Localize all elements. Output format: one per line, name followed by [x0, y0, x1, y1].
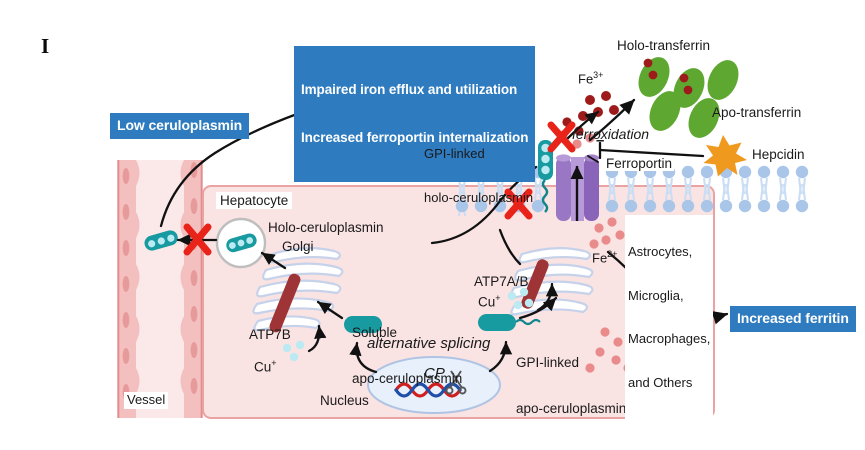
label-inhibition-sign: –: [596, 133, 604, 150]
fe3-text: Fe: [578, 71, 593, 86]
vessel-graphic: [117, 160, 203, 420]
cell-types-line-1: Astrocytes,: [628, 245, 710, 260]
label-holo-ceruloplasmin: Holo-ceruloplasmin: [268, 220, 384, 235]
label-apo-transferrin: Apo-transferrin: [712, 105, 801, 120]
figure-canvas: I Impaired iron efflux and utilization I…: [0, 0, 865, 450]
label-ferroportin: Ferroportin: [604, 156, 674, 171]
label-cu-left: Cu+: [254, 358, 277, 375]
transferrin-molecules: [632, 52, 744, 143]
soluble-apo-line-2: apo-ceruloplasmin: [352, 371, 462, 386]
cu-right-superscript: +: [495, 293, 500, 303]
label-golgi: Golgi: [282, 239, 314, 254]
label-alternative-splicing: alternative splicing: [367, 336, 490, 353]
ferroportin-channel: [556, 154, 599, 221]
label-fe3: Fe3+: [578, 70, 603, 87]
callout-increased-ferritin: Increased ferritin: [730, 306, 856, 332]
label-cp-gene: CP: [424, 366, 445, 383]
label-cu-right: Cu+: [478, 293, 501, 310]
cell-types-line-4: and Others: [628, 376, 710, 391]
cu-left-text: Cu: [254, 360, 271, 375]
gpi-holo-line-1: GPI-linked: [424, 147, 533, 162]
label-nucleus: Nucleus: [320, 393, 369, 408]
callout-low-ceruloplasmin: Low ceruloplasmin: [110, 113, 249, 139]
gpi-apo-line-1: GPI-linked: [516, 355, 626, 370]
label-hepcidin: Hepcidin: [752, 147, 805, 162]
gpi-holo-line-2: holo-ceruloplasmin: [424, 191, 533, 206]
secretory-vesicle: [217, 219, 265, 267]
label-ferroxidation: ferroxidation: [572, 127, 649, 143]
gpi-apo-line-2: apo-ceruloplasmin: [516, 401, 626, 416]
label-hepatocyte: Hepatocyte: [216, 192, 292, 209]
fe2-superscript: 2+: [607, 249, 617, 259]
panel-letter: I: [41, 34, 49, 59]
label-gpi-apo-ceruloplasmin: GPI-linked apo-ceruloplasmin: [516, 325, 626, 446]
label-vessel: Vessel: [124, 392, 168, 409]
cu-left-superscript: +: [271, 358, 276, 368]
label-atp7b: ATP7B: [249, 327, 291, 342]
cu-right-text: Cu: [478, 295, 495, 310]
fe2-text: Fe: [592, 250, 607, 265]
label-gpi-holo-ceruloplasmin: GPI-linked holo-ceruloplasmin: [424, 118, 533, 234]
fe3-superscript: 3+: [593, 70, 603, 80]
label-fe2: Fe2+: [592, 249, 617, 266]
label-cell-types: Astrocytes, Microglia, Macrophages, and …: [625, 215, 713, 421]
label-atp7ab: ATP7A/B: [474, 274, 529, 289]
label-holo-transferrin: Holo-transferrin: [617, 38, 710, 53]
callout-line-1: Impaired iron efflux and utilization: [301, 82, 528, 98]
cell-types-line-3: Macrophages,: [628, 332, 710, 347]
cell-types-line-2: Microglia,: [628, 289, 710, 304]
